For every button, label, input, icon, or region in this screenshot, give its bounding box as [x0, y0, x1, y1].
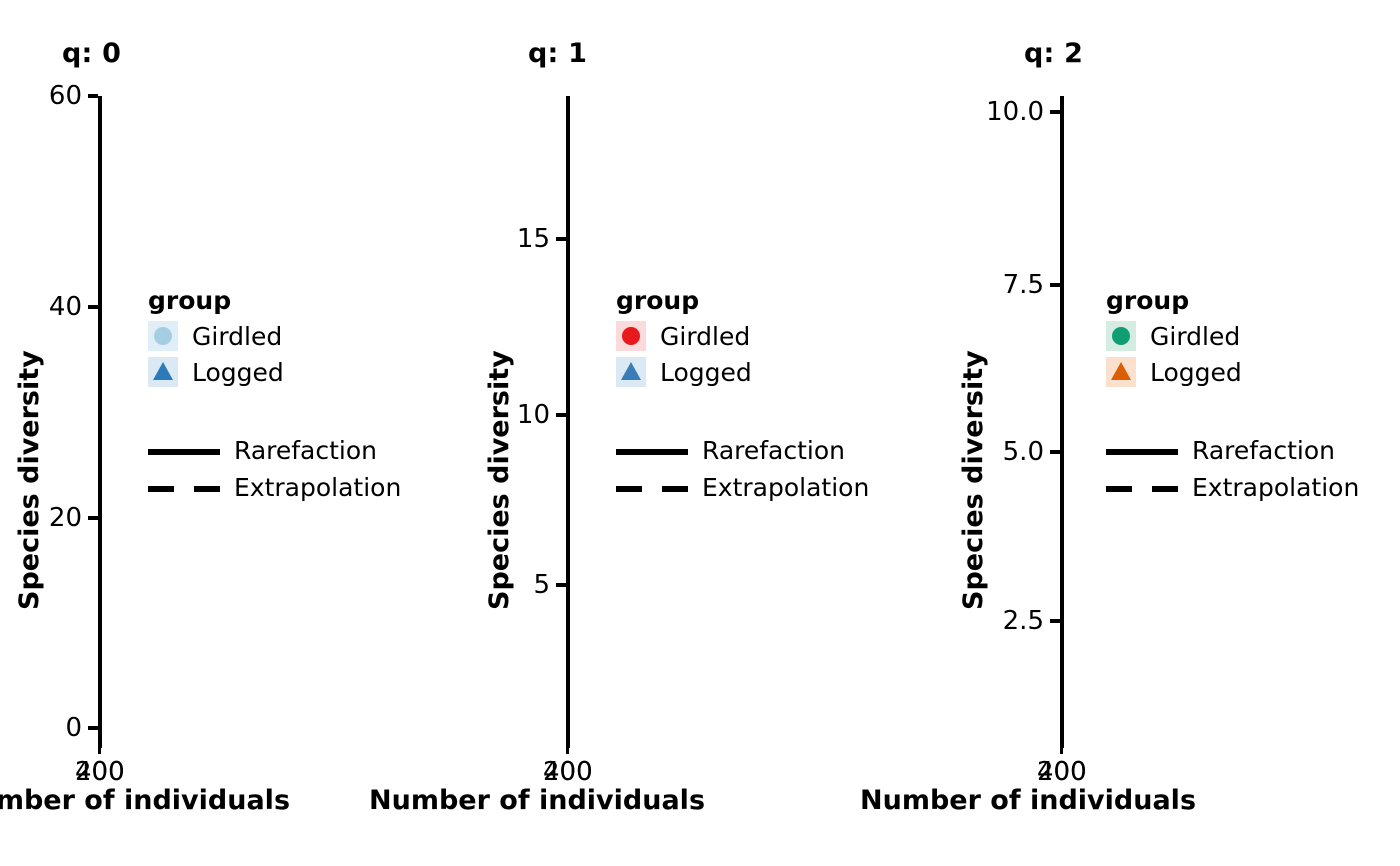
y-tick-mark [1050, 619, 1060, 623]
legend-title: group [616, 288, 869, 313]
x-tick-label: 400 [543, 757, 593, 787]
legend-item-extrapolation[interactable]: Extrapolation [1106, 469, 1359, 506]
legend-item-logged[interactable]: Logged [1106, 354, 1359, 390]
y-tick-mark [88, 516, 98, 520]
legend-item-girdled[interactable]: Girdled [1106, 318, 1359, 354]
legend-item-extrapolation[interactable]: Extrapolation [616, 469, 869, 506]
dashed-line-icon [616, 473, 688, 503]
y-tick-label: 60 [18, 81, 82, 111]
panel-title-q2: q: 2 [1024, 38, 1083, 69]
y-tick-mark [1050, 110, 1060, 114]
circle-marker-icon [616, 321, 646, 351]
legend-item-label: Logged [660, 360, 752, 385]
legend-item-label: Girdled [192, 324, 282, 349]
circle-marker-icon [148, 321, 178, 351]
legend-q2: group Girdled Logged Rarefaction [1106, 288, 1359, 506]
x-tick-mark [1060, 742, 1063, 754]
legend-item-label: Extrapolation [1192, 475, 1359, 500]
panel-title-q1: q: 1 [528, 38, 587, 69]
legend-item-rarefaction[interactable]: Rarefaction [616, 432, 869, 469]
legend-method-group: Rarefaction Extrapolation [148, 432, 401, 506]
x-tick-label: 400 [1037, 757, 1087, 787]
x-axis-title-q2: Number of individuals [860, 785, 1196, 816]
legend-item-logged[interactable]: Logged [148, 354, 401, 390]
legend-method-group: Rarefaction Extrapolation [1106, 432, 1359, 506]
legend-q1: group Girdled Logged Rarefaction [616, 288, 869, 506]
y-tick-label: 40 [18, 292, 82, 322]
legend-item-girdled[interactable]: Girdled [148, 318, 401, 354]
rarefaction-figure: q: 0 60 40 20 0 Species diversity 200 40… [0, 0, 1400, 866]
y-tick-label: 15 [488, 224, 550, 254]
legend-item-rarefaction[interactable]: Rarefaction [148, 432, 401, 469]
y-tick-mark [556, 583, 566, 587]
legend-item-label: Girdled [660, 324, 750, 349]
y-axis-line-q1 [566, 96, 570, 748]
x-tick-mark [98, 742, 101, 754]
legend-item-label: Rarefaction [1192, 438, 1335, 463]
legend-item-logged[interactable]: Logged [616, 354, 869, 390]
legend-item-label: Logged [192, 360, 284, 385]
y-tick-mark [88, 305, 98, 309]
legend-item-label: Logged [1150, 360, 1242, 385]
solid-line-icon [1106, 436, 1178, 466]
y-tick-label: 10.0 [960, 97, 1044, 127]
y-tick-label: 2.5 [960, 606, 1044, 636]
y-axis-line-q0 [98, 96, 102, 748]
y-tick-mark [88, 94, 98, 98]
solid-line-icon [148, 436, 220, 466]
legend-q0: group Girdled Logged Rarefaction [148, 288, 401, 506]
x-tick-label: 400 [75, 757, 125, 787]
dashed-line-icon [1106, 473, 1178, 503]
dashed-line-icon [148, 473, 220, 503]
triangle-marker-icon [1106, 357, 1136, 387]
y-axis-title-q0: Species diversity [14, 350, 45, 610]
triangle-marker-icon [148, 357, 178, 387]
y-axis-title-q2: Species diversity [958, 350, 989, 610]
y-axis-line-q2 [1060, 96, 1064, 748]
x-tick-mark [566, 742, 569, 754]
y-tick-mark [556, 413, 566, 417]
y-tick-mark [88, 726, 98, 730]
legend-item-girdled[interactable]: Girdled [616, 318, 869, 354]
legend-title: group [148, 288, 401, 313]
triangle-marker-icon [616, 357, 646, 387]
y-tick-label: 7.5 [960, 270, 1044, 300]
x-axis-title-q1: Number of individuals [369, 785, 705, 816]
legend-item-label: Extrapolation [702, 475, 869, 500]
y-axis-title-q1: Species diversity [484, 350, 515, 610]
legend-item-extrapolation[interactable]: Extrapolation [148, 469, 401, 506]
legend-title: group [1106, 288, 1359, 313]
circle-marker-icon [1106, 321, 1136, 351]
panel-title-q0: q: 0 [62, 38, 121, 69]
y-tick-mark [1050, 283, 1060, 287]
x-axis-title-q0: Number of individuals [0, 785, 290, 816]
legend-item-label: Rarefaction [234, 438, 377, 463]
legend-item-label: Rarefaction [702, 438, 845, 463]
legend-item-label: Girdled [1150, 324, 1240, 349]
solid-line-icon [616, 436, 688, 466]
legend-item-label: Extrapolation [234, 475, 401, 500]
legend-item-rarefaction[interactable]: Rarefaction [1106, 432, 1359, 469]
legend-method-group: Rarefaction Extrapolation [616, 432, 869, 506]
y-tick-mark [556, 237, 566, 241]
y-tick-mark [1050, 450, 1060, 454]
y-tick-label: 0 [18, 713, 82, 743]
